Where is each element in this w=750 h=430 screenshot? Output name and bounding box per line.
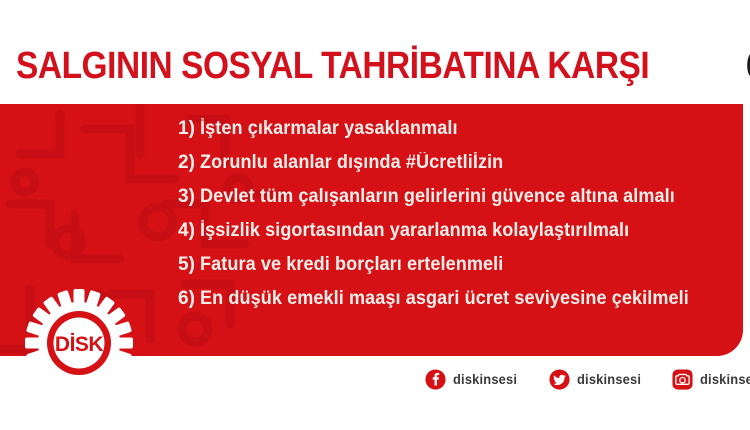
disk-logo-label: DİSK bbox=[55, 333, 104, 356]
gear-icon: DİSK bbox=[24, 288, 134, 398]
page-title: SALGININ SOSYAL TAHRİBATINA KARŞI6 ACİL … bbox=[16, 44, 736, 88]
list-item: 5) Fatura ve kredi borçları ertelenmeli bbox=[178, 254, 738, 288]
social-handle-twitter: diskinsesi bbox=[577, 371, 641, 387]
list-item: 1) İşten çıkarmalar yasaklanmalı bbox=[178, 118, 738, 152]
list-item-number: 4) bbox=[178, 220, 200, 242]
list-item-label: İşsizlik sigortasından yararlanma kolayl… bbox=[200, 220, 629, 242]
list-item: 4) İşsizlik sigortasından yararlanma kol… bbox=[178, 220, 738, 254]
list-item-label: Devlet tüm çalışanların gelirlerini güve… bbox=[200, 186, 675, 208]
instagram-icon[interactable] bbox=[672, 369, 693, 390]
list-item-label: Zorunlu alanlar dışında #Ücretliİzin bbox=[200, 152, 503, 174]
list-item-label: İşten çıkarmalar yasaklanmalı bbox=[200, 118, 458, 140]
social-links-bar: diskinsesi diskinsesi diskinsesi bbox=[425, 366, 750, 392]
list-item-label: En düşük emekli maaşı asgari ücret seviy… bbox=[200, 288, 689, 310]
list-item: 6) En düşük emekli maaşı asgari ücret se… bbox=[178, 288, 738, 322]
twitter-icon[interactable] bbox=[549, 369, 570, 390]
list-item-number: 1) bbox=[178, 118, 200, 140]
social-handle-facebook: diskinsesi bbox=[453, 371, 517, 387]
page-title-dark-part: 6 ACİL ÖNLEM bbox=[746, 44, 750, 88]
disk-logo: DİSK bbox=[24, 288, 134, 398]
social-link-instagram[interactable]: diskinsesi bbox=[672, 369, 750, 390]
list-item-number: 3) bbox=[178, 186, 200, 208]
measures-list: 1) İşten çıkarmalar yasaklanmalı 2) Zoru… bbox=[178, 118, 738, 322]
list-item: 3) Devlet tüm çalışanların gelirlerini g… bbox=[178, 186, 738, 220]
social-handle-instagram: diskinsesi bbox=[700, 371, 750, 387]
poster-canvas: SALGININ SOSYAL TAHRİBATINA KARŞI6 ACİL … bbox=[0, 0, 750, 430]
page-title-red-part: SALGININ SOSYAL TAHRİBATINA KARŞI bbox=[16, 44, 649, 88]
list-item-number: 6) bbox=[178, 288, 200, 310]
list-item-label: Fatura ve kredi borçları ertelenmeli bbox=[200, 254, 503, 276]
list-item-number: 2) bbox=[178, 152, 200, 174]
list-item: 2) Zorunlu alanlar dışında #Ücretliİzin bbox=[178, 152, 738, 186]
social-link-facebook[interactable]: diskinsesi bbox=[425, 369, 523, 390]
social-link-twitter[interactable]: diskinsesi bbox=[549, 369, 647, 390]
list-item-number: 5) bbox=[178, 254, 200, 276]
facebook-icon[interactable] bbox=[425, 369, 446, 390]
